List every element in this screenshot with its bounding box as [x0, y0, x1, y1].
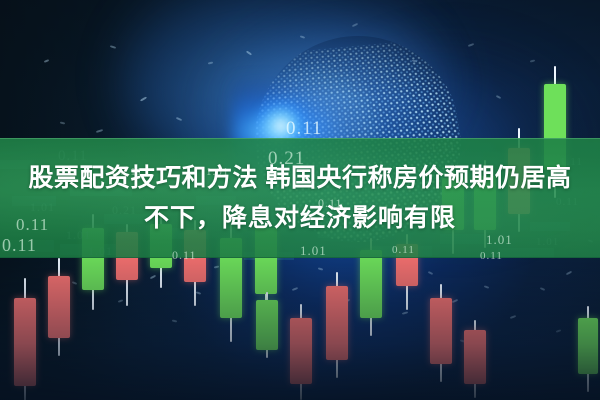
headline-line-1: 股票配资技巧和方法 韩国央行称房价预期仍居高: [29, 160, 572, 196]
headline-text: 股票配资技巧和方法 韩国央行称房价预期仍居高 不下，降息对经济影响有限: [0, 138, 600, 258]
headline-line-2: 不下，降息对经济影响有限: [144, 200, 456, 236]
news-banner: 0.111.011.010.211.010.111.111.010.111.11…: [0, 0, 600, 400]
